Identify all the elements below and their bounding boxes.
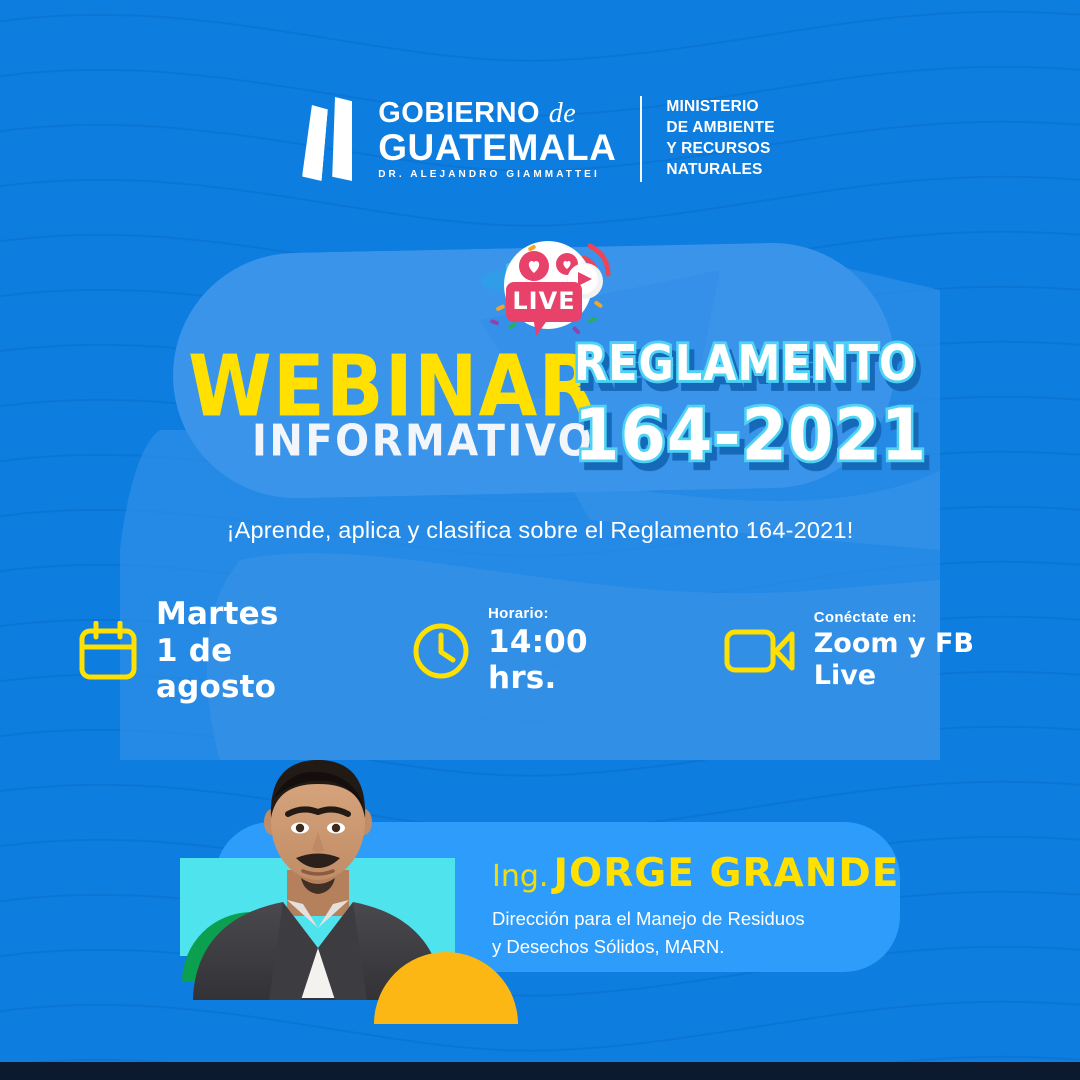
guatemala-word: GUATEMALA xyxy=(378,129,616,166)
gobierno-lockup: GOBIERNO de GUATEMALA DR. ALEJANDRO GIAM… xyxy=(378,99,616,180)
reglamento-number: 164-2021 xyxy=(574,400,927,472)
event-time-label: Horario: xyxy=(488,605,645,624)
calendar-icon xyxy=(78,621,138,681)
event-details-row: Martes 1 de agosto Horario: 14:00 hrs. C… xyxy=(78,596,1018,706)
logo-divider xyxy=(640,96,642,182)
page-subtitle-informativo: INFORMATIVO xyxy=(252,416,594,467)
event-date: Martes 1 de agosto xyxy=(78,596,339,706)
speaker-info: Ing. JORGE GRANDE Dirección para el Mane… xyxy=(492,854,899,961)
video-camera-icon xyxy=(724,623,796,679)
webinar-poster: GOBIERNO de GUATEMALA DR. ALEJANDRO GIAM… xyxy=(0,0,1080,1080)
president-name: DR. ALEJANDRO GIAMMATTEI xyxy=(378,170,616,180)
live-broadcast-badge-icon: LIVE xyxy=(472,228,622,350)
ministry-line-4: NATURALES xyxy=(666,160,774,181)
event-time: Horario: 14:00 hrs. xyxy=(412,605,645,697)
event-platform-value: Zoom y FB Live xyxy=(814,628,1018,693)
event-platform-label: Conéctate en: xyxy=(814,609,1018,628)
ministry-name: MINISTERIO DE AMBIENTE Y RECURSOS NATURA… xyxy=(666,97,774,181)
ministry-line-1: MINISTERIO xyxy=(666,97,774,118)
event-day-name: Martes xyxy=(156,596,339,633)
gobierno-word: GOBIERNO xyxy=(378,97,540,129)
speaker-role: Dirección para el Manejo de Residuos y D… xyxy=(492,905,899,961)
reglamento-word: REGLAMENTO xyxy=(574,340,920,389)
speaker-role-line-1: Dirección para el Manejo de Residuos xyxy=(492,905,899,933)
ministry-line-2: DE AMBIENTE xyxy=(666,118,774,139)
swoosh-decoration xyxy=(120,430,940,760)
gobierno-de-word: de xyxy=(549,98,576,129)
speaker-name-line: Ing. JORGE GRANDE xyxy=(492,854,899,893)
header-logo: GOBIERNO de GUATEMALA DR. ALEJANDRO GIAM… xyxy=(0,96,1080,182)
bottom-bar xyxy=(0,1062,1080,1080)
speaker-name: JORGE GRANDE xyxy=(554,851,900,896)
event-date-value: 1 de agosto xyxy=(156,633,339,706)
reglamento-badge: REGLAMENTO 164-2021 xyxy=(574,340,920,464)
two-vertical-bars-icon xyxy=(305,97,352,181)
ministry-line-3: Y RECURSOS xyxy=(666,139,774,160)
clock-icon xyxy=(412,622,470,680)
tagline: ¡Aprende, aplica y clasifica sobre el Re… xyxy=(0,517,1080,544)
live-badge-label: LIVE xyxy=(512,287,575,315)
speaker-title-prefix: Ing. xyxy=(492,859,548,894)
event-time-value: 14:00 hrs. xyxy=(488,624,645,697)
event-platform: Conéctate en: Zoom y FB Live xyxy=(724,609,1018,693)
speaker-role-line-2: y Desechos Sólidos, MARN. xyxy=(492,933,899,961)
